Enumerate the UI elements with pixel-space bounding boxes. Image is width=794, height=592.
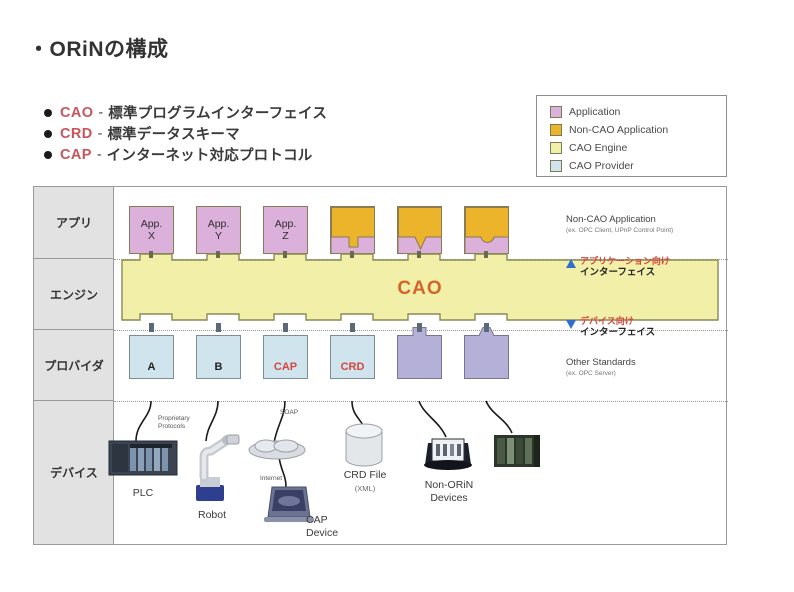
legend-swatch-icon (550, 124, 562, 136)
device-label-crd-file: CRD File (XML) (332, 469, 398, 495)
legend-label: Application (569, 106, 620, 118)
list-item: CAO - 標準プログラムインターフェイス (44, 102, 327, 123)
crd-file-icon (346, 424, 382, 466)
list-item: CAP - インターネット対応プロトコル (44, 144, 327, 165)
internet-cloud-icon (249, 440, 305, 459)
legend-item: Application (550, 103, 726, 121)
device-name: CAP (306, 514, 362, 527)
architecture-diagram: アプリ エンジン プロバイダ デバイス App. X App. Y App. Z (33, 186, 727, 545)
device-name: Robot (182, 509, 242, 522)
app-interface-arrow-icon (566, 259, 576, 268)
legend-swatch-icon (550, 142, 562, 154)
annotation-device-interface-red: デバイス向け (580, 315, 655, 327)
bullet-dot-icon (44, 151, 52, 159)
bullet-text: 標準データスキーマ (107, 123, 239, 144)
app-box-line2: X (148, 230, 155, 242)
annotation-non-cao-application: Non-CAO Application (ex. OPC Client, UPn… (566, 214, 673, 236)
provider-box-b[interactable]: B (196, 335, 241, 379)
provider-label: CRD (341, 361, 365, 373)
plc-icon (109, 441, 177, 475)
device-name: Non-ORiN (414, 479, 484, 492)
bullet-key: CRD (60, 126, 93, 142)
provider-label: A (148, 361, 156, 373)
legend-item: Non-CAO Application (550, 121, 726, 139)
layer-label-provider: プロバイダ (34, 330, 114, 401)
device-label-cap-device: CAP Device (306, 514, 362, 540)
app-box-x[interactable]: App. X (129, 206, 174, 254)
bullet-key: CAO (60, 105, 93, 121)
bullet-dash: - (98, 105, 103, 121)
annotation-subtitle: (ex. OPC Server) (566, 368, 636, 379)
legend-label: Non-CAO Application (569, 124, 668, 136)
bullet-dash: - (97, 147, 102, 163)
slide-canvas: ・ORiNの構成 CAO - 標準プログラムインターフェイス CRD - 標準デ… (0, 0, 794, 592)
legend-item: CAO Provider (550, 157, 726, 175)
annotation-app-interface-red: アプリケーション向け (580, 255, 670, 267)
device-connection-wires (114, 395, 728, 545)
bullet-key: CAP (60, 147, 92, 163)
annotation-app-interface-black: インターフェイス (580, 267, 670, 279)
app-box-y[interactable]: App. Y (196, 206, 241, 254)
app-box-line2: Z (282, 230, 288, 242)
bullet-text: 標準プログラムインターフェイス (108, 102, 327, 123)
list-item: CRD - 標準データスキーマ (44, 123, 327, 144)
provider-box-crd[interactable]: CRD (330, 335, 375, 379)
app-box-z[interactable]: App. Z (263, 206, 308, 254)
non-orin-device-2-icon (494, 435, 540, 467)
provider-label: CAP (274, 361, 297, 373)
wire-label-proprietary: Proprietary Protocols (158, 415, 190, 431)
app-box-line1: App. (275, 218, 297, 230)
annotation-title: Other Standards (566, 357, 636, 368)
bullet-list: CAO - 標準プログラムインターフェイス CRD - 標準データスキーマ CA… (44, 102, 327, 165)
wire-label-internet: Internet (260, 475, 282, 483)
legend-item: CAO Engine (550, 139, 726, 157)
annotation-title: Non-CAO Application (566, 214, 673, 225)
layer-label-app: アプリ (34, 187, 114, 259)
bullet-dot-icon (44, 109, 52, 117)
provider-label: B (215, 361, 223, 373)
annotation-subtitle: (ex. OPC Client, UPnP Control Point) (566, 225, 673, 236)
device-label-robot: Robot (182, 509, 242, 522)
legend-label: CAO Engine (569, 142, 627, 154)
layer-label-column: アプリ エンジン プロバイダ デバイス (34, 187, 114, 544)
bullet-dot-icon (44, 130, 52, 138)
non-cao-app-box-1[interactable] (330, 206, 375, 254)
non-orin-device-1-icon (424, 439, 472, 470)
device-label-non-orin: Non-ORiN Devices (414, 479, 484, 505)
device-name: CRD File (332, 469, 398, 482)
wire-label-soap: SOAP (280, 409, 298, 417)
wire-label-line2: Protocols (158, 423, 190, 431)
device-name-line2: Device (306, 527, 362, 540)
wire-label-line1: Proprietary (158, 415, 190, 423)
legend: Application Non-CAO Application CAO Engi… (536, 95, 727, 177)
app-box-line2: Y (215, 230, 222, 242)
device-name-line2: Devices (414, 492, 484, 505)
cao-engine-label: CAO (120, 278, 720, 300)
app-box-line1: App. (141, 218, 163, 230)
diagram-canvas: App. X App. Y App. Z (114, 187, 726, 544)
device-interface-arrow-icon (566, 320, 576, 329)
layer-label-engine: エンジン (34, 259, 114, 330)
legend-swatch-icon (550, 106, 562, 118)
app-box-line1: App. (208, 218, 230, 230)
device-name: PLC (114, 487, 172, 500)
device-name-sub: (XML) (332, 482, 398, 495)
annotation-device-interface-black: インターフェイス (580, 327, 655, 339)
page-title: ・ORiNの構成 (28, 33, 169, 63)
provider-box-a[interactable]: A (129, 335, 174, 379)
legend-label: CAO Provider (569, 160, 634, 172)
layer-label-device: デバイス (34, 401, 114, 544)
bullet-dash: - (98, 126, 103, 142)
non-cao-app-box-2[interactable] (397, 206, 442, 254)
provider-box-cap[interactable]: CAP (263, 335, 308, 379)
device-label-plc: PLC (114, 487, 172, 500)
annotation-device-interface: デバイス向け インターフェイス (580, 315, 655, 339)
non-cao-app-box-3[interactable] (464, 206, 509, 254)
legend-swatch-icon (550, 160, 562, 172)
bullet-text: インターネット対応プロトコル (107, 144, 313, 165)
robot-icon (196, 435, 239, 501)
annotation-app-interface: アプリケーション向け インターフェイス (580, 255, 670, 279)
annotation-other-standards: Other Standards (ex. OPC Server) (566, 357, 636, 379)
